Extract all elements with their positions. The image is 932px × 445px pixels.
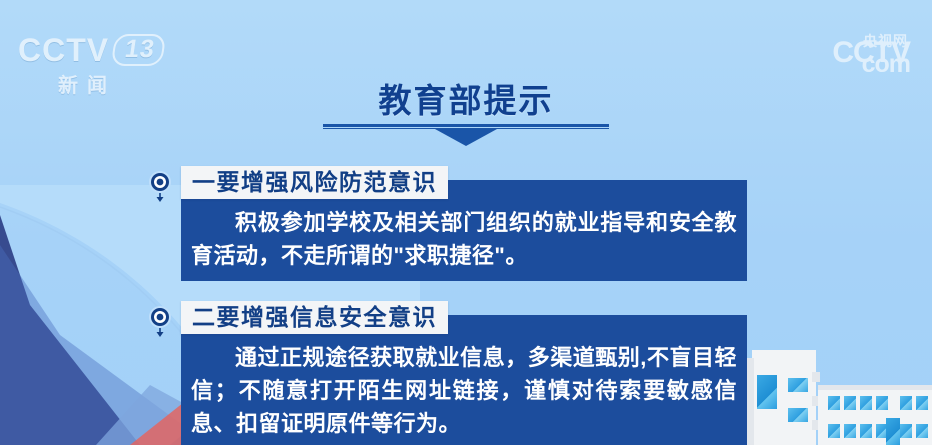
cctv-logo-number: 13 bbox=[111, 34, 166, 66]
tip-2-heading: 二要增强信息安全意识 bbox=[181, 301, 448, 334]
cctv-logo-text: CCTV bbox=[18, 33, 109, 67]
headline-block: 教育部提示 bbox=[0, 82, 932, 146]
watermark-com-text: com bbox=[862, 52, 910, 77]
location-pin-icon bbox=[147, 305, 173, 339]
watermark-cn-text: 央视网 bbox=[863, 34, 908, 48]
page-title: 教育部提示 bbox=[0, 82, 932, 120]
tip-1-text: 积极参加学校及相关部门组织的就业指导和安全教育活动，不走所谓的"求职捷径"。 bbox=[191, 206, 737, 272]
cctv-logo-row: CCTV 13 bbox=[18, 33, 150, 67]
tip-2-body: 通过正规途径获取就业信息，多渠道甄别,不盲目轻信；不随意打开陌生网址链接，谨慎对… bbox=[181, 315, 747, 445]
headline-arrow-icon bbox=[435, 129, 497, 146]
location-pin-icon bbox=[147, 170, 173, 204]
broadcast-screen: CCTV 13 新闻 CCTV 央视网 com 教育部提示 一要增强风险防范意识… bbox=[0, 0, 932, 445]
tip-2-text: 通过正规途径获取就业信息，多渠道甄别,不盲目轻信；不随意打开陌生网址链接，谨慎对… bbox=[191, 341, 737, 440]
tip-1-heading: 一要增强风险防范意识 bbox=[181, 166, 448, 199]
cctv-com-watermark: CCTV 央视网 com bbox=[832, 38, 910, 68]
